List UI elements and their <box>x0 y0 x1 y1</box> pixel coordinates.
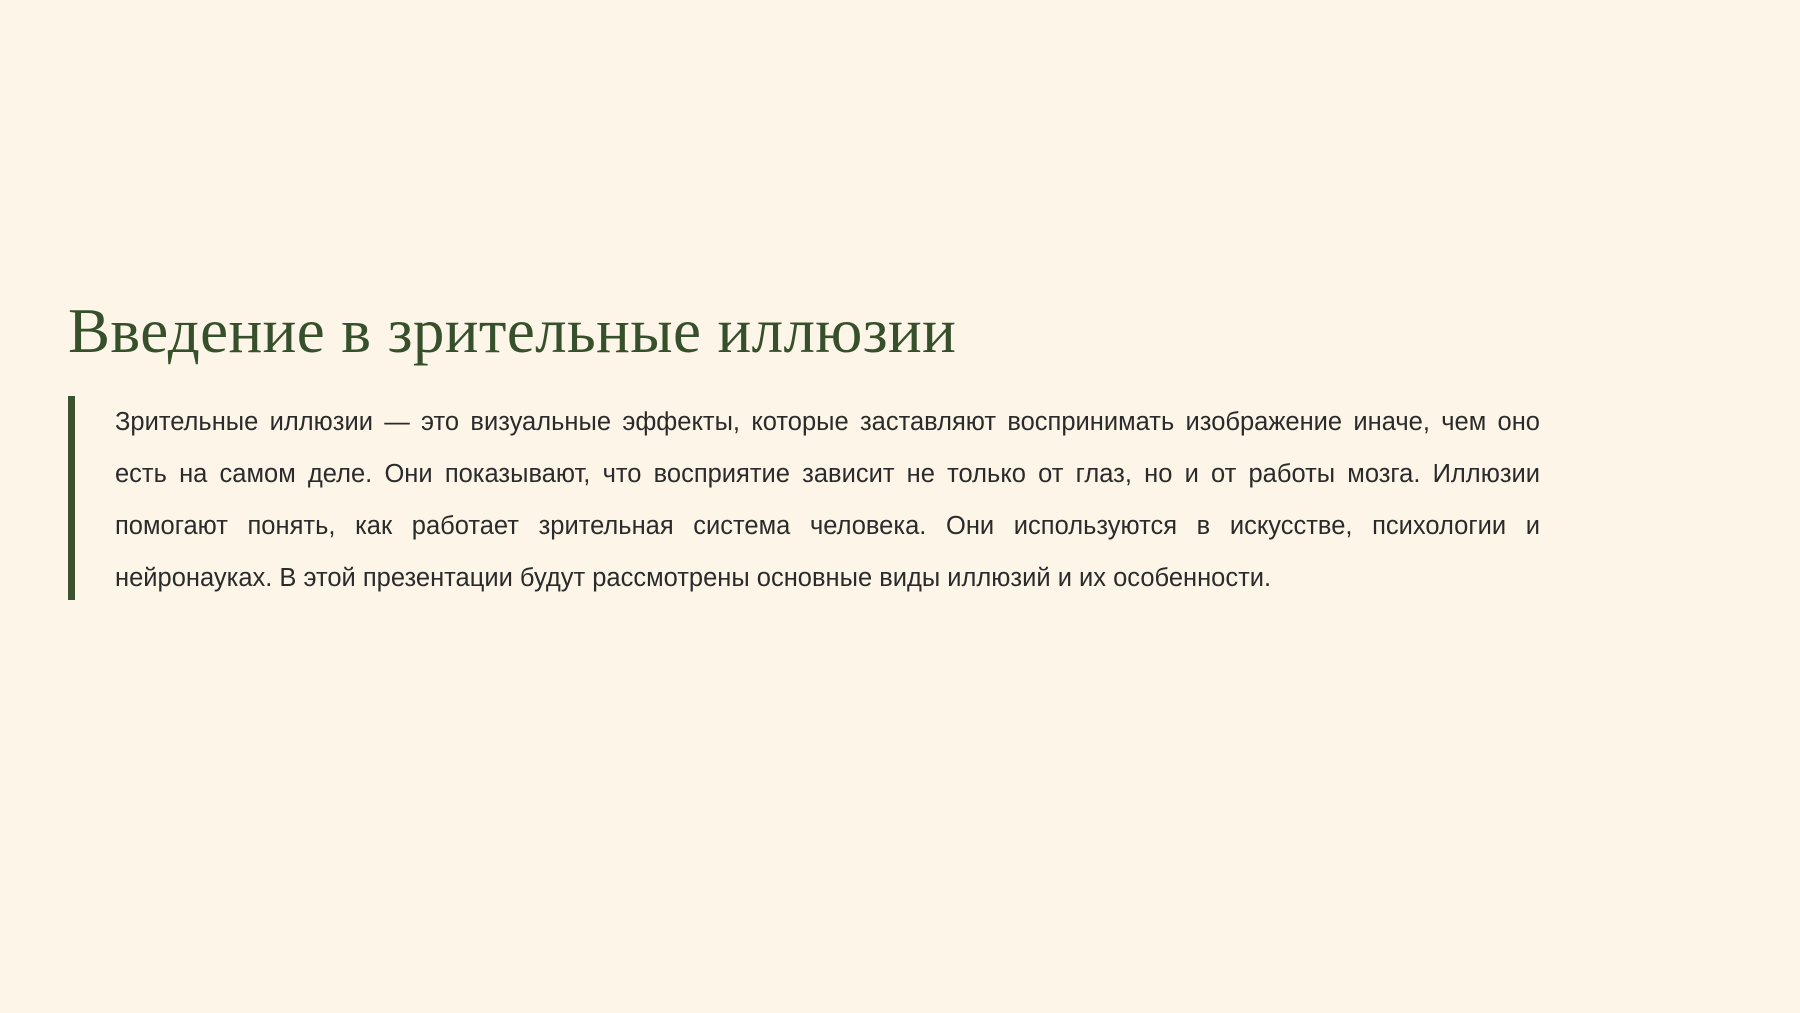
accent-bar <box>68 396 75 600</box>
slide-body-text: Зрительные иллюзии — это визуальные эффе… <box>115 396 1540 604</box>
presentation-slide: Введение в зрительные иллюзии Зрительные… <box>0 0 1800 1013</box>
body-quote-block: Зрительные иллюзии — это визуальные эффе… <box>68 396 1508 604</box>
slide-content: Введение в зрительные иллюзии Зрительные… <box>68 296 1508 604</box>
slide-title: Введение в зрительные иллюзии <box>68 296 1508 367</box>
